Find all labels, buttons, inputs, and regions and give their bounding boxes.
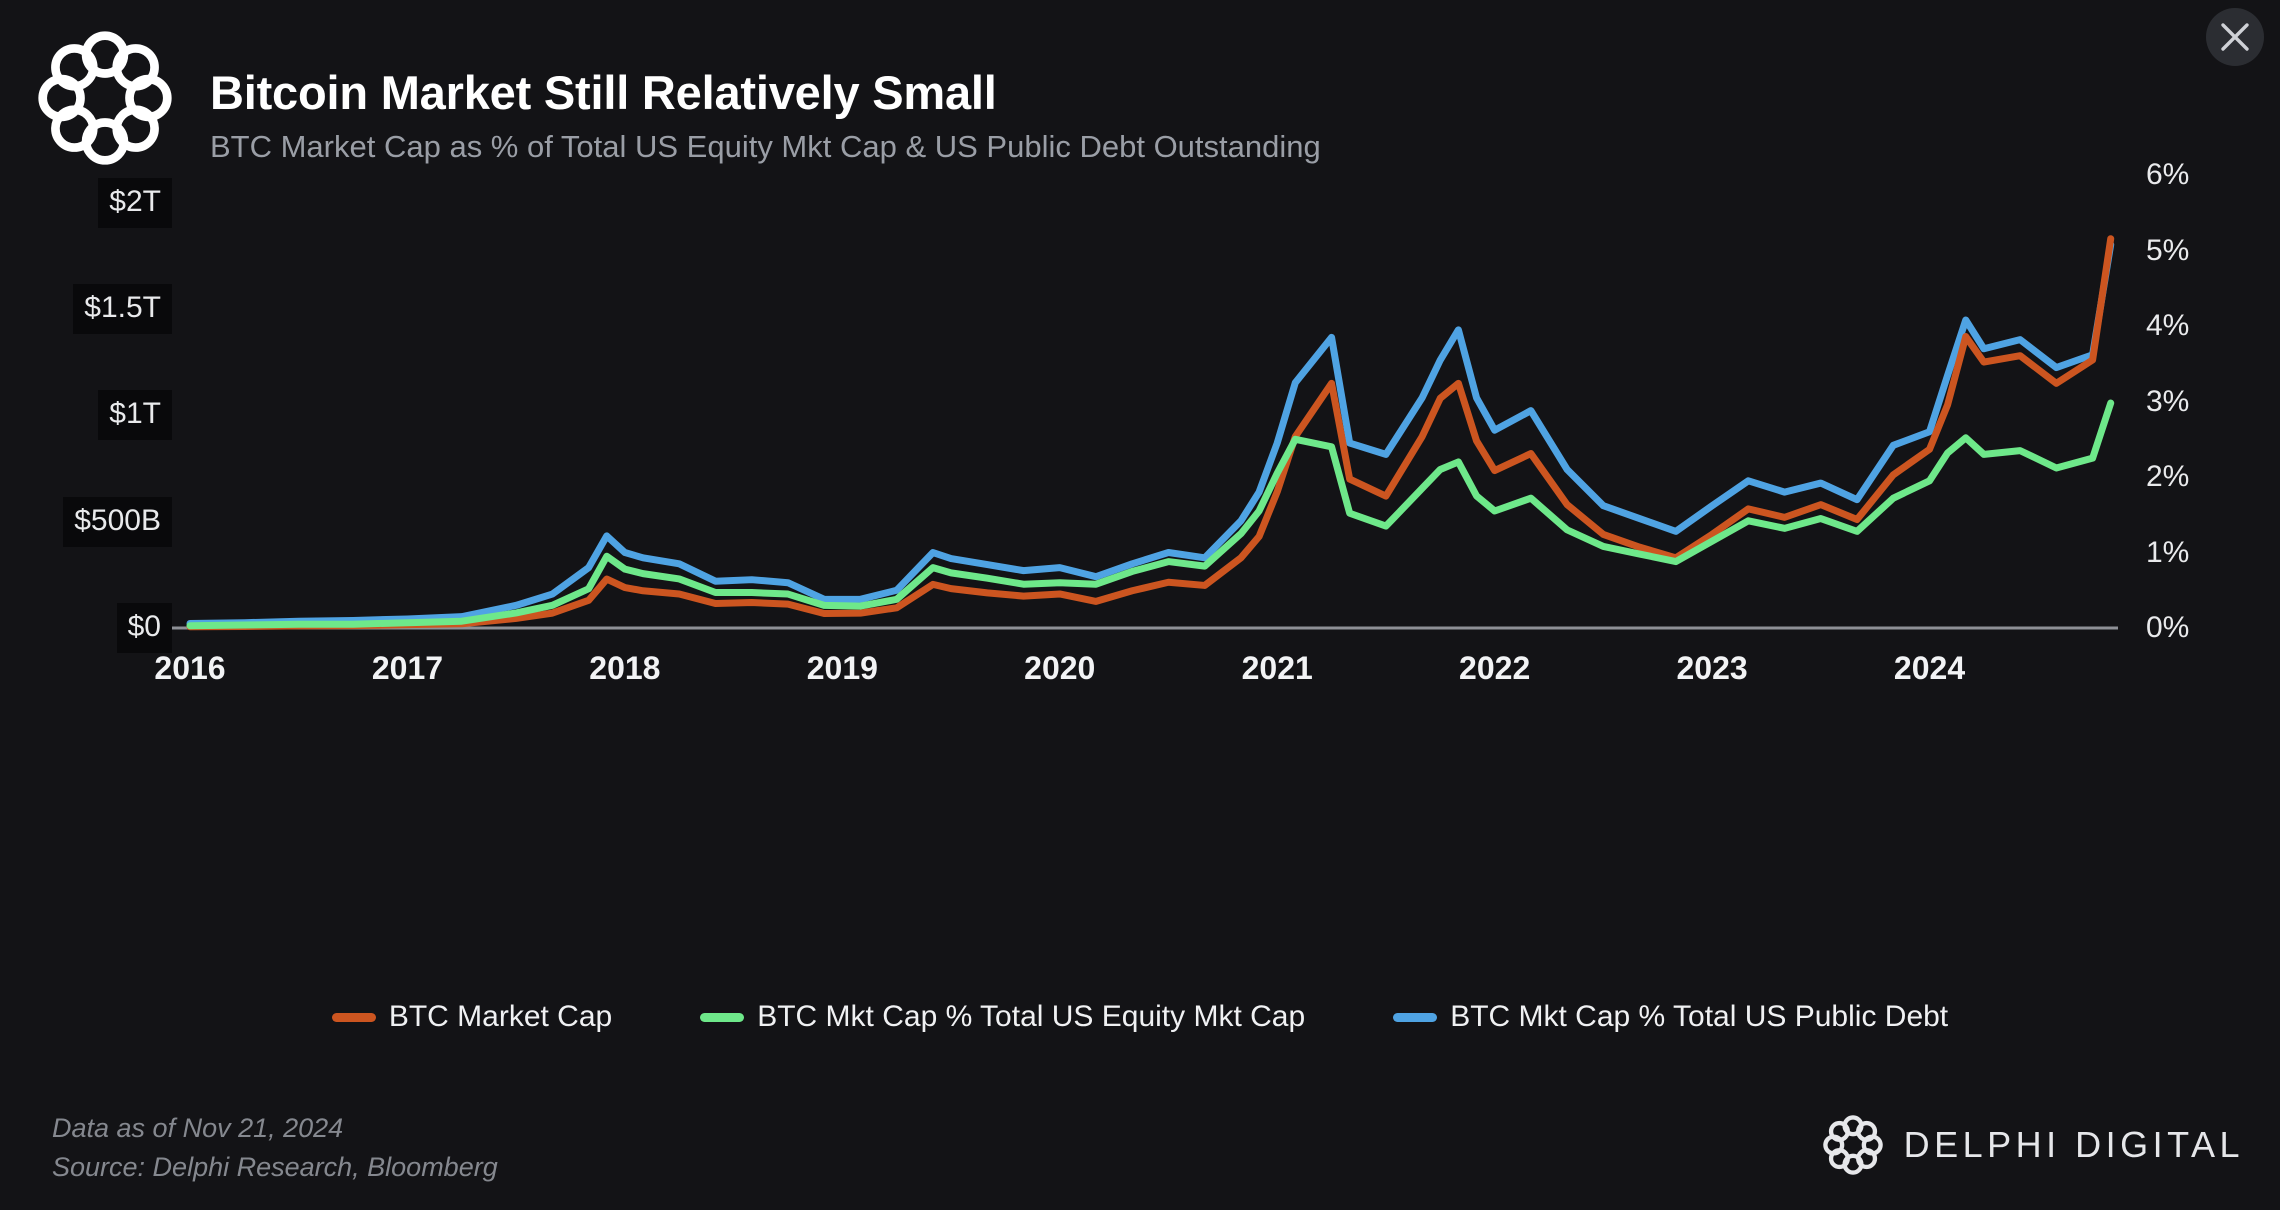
legend-label: BTC Mkt Cap % Total US Public Debt [1450,1000,1948,1034]
x-tick-label: 2019 [807,650,878,687]
x-tick-label: 2017 [372,650,443,687]
legend-label: BTC Mkt Cap % Total US Equity Mkt Cap [757,1000,1305,1034]
close-icon [2218,20,2252,54]
source-text: Source: Delphi Research, Bloomberg [52,1148,498,1186]
y-left-tick-label: $0 [117,603,172,653]
delphi-knot-mark-icon [1822,1114,1884,1176]
series-line-pct-equity [190,403,2111,626]
plot-area: $0$500B$1T$1.5T$2T 0%1%2%3%4%5%6% 201620… [0,150,2280,940]
legend-item[interactable]: BTC Mkt Cap % Total US Equity Mkt Cap [700,1000,1305,1034]
y-left-tick-label: $1T [98,390,172,440]
x-tick-label: 2024 [1894,650,1965,687]
delphi-wordmark: DELPHI DIGITAL [1904,1124,2244,1166]
chart-card: Bitcoin Market Still Relatively Small BT… [0,0,2280,1210]
x-tick-label: 2023 [1676,650,1747,687]
y-right-tick-label: 0% [2146,613,2189,643]
legend-item[interactable]: BTC Mkt Cap % Total US Public Debt [1393,1000,1948,1034]
footer-notes: Data as of Nov 21, 2024 Source: Delphi R… [52,1109,498,1186]
close-button[interactable] [2206,8,2264,66]
y-right-tick-label: 6% [2146,160,2189,190]
y-right-tick-label: 3% [2146,387,2189,417]
x-tick-label: 2020 [1024,650,1095,687]
legend-swatch-icon [1393,1013,1437,1022]
page-title: Bitcoin Market Still Relatively Small [210,68,1321,117]
y-right-tick-label: 5% [2146,236,2189,266]
chart-header: Bitcoin Market Still Relatively Small BT… [30,28,1321,168]
chart-canvas [0,150,2280,940]
chart-legend: BTC Market CapBTC Mkt Cap % Total US Equ… [0,1000,2280,1034]
y-right-tick-label: 2% [2146,462,2189,492]
data-as-of-text: Data as of Nov 21, 2024 [52,1109,498,1147]
legend-swatch-icon [332,1013,376,1022]
y-left-tick-label: $2T [98,178,172,228]
x-tick-label: 2018 [589,650,660,687]
y-right-tick-label: 1% [2146,538,2189,568]
x-tick-label: 2016 [154,650,225,687]
y-right-tick-label: 4% [2146,311,2189,341]
x-tick-label: 2022 [1459,650,1530,687]
delphi-knot-logo-icon [30,28,180,168]
legend-label: BTC Market Cap [389,1000,612,1034]
y-left-tick-label: $500B [63,497,172,547]
legend-swatch-icon [700,1013,744,1022]
y-left-tick-label: $1.5T [73,284,172,334]
x-tick-label: 2021 [1242,650,1313,687]
legend-item[interactable]: BTC Market Cap [332,1000,612,1034]
delphi-brand: DELPHI DIGITAL [1822,1114,2244,1176]
